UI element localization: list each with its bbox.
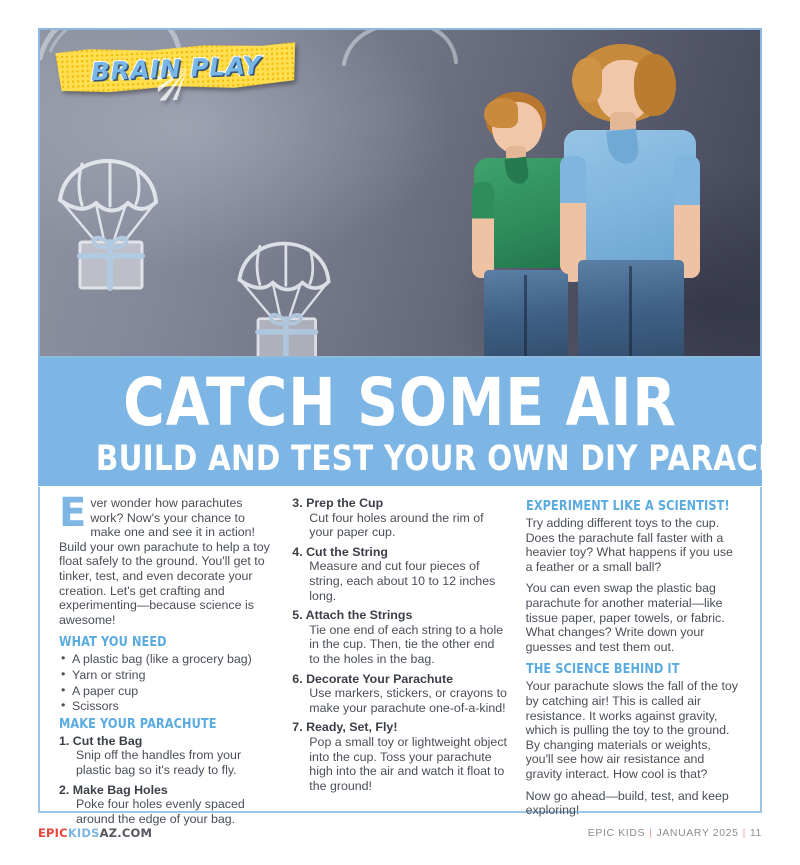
materials-list: A plastic bag (like a grocery bag) Yarn … [59, 652, 274, 713]
list-item: 4. Cut the String Measure and cut four p… [292, 545, 507, 603]
heading-science: THE SCIENCE BEHIND IT [526, 661, 707, 677]
list-item: 2. Make Bag Holes Poke four holes evenly… [59, 783, 274, 827]
logo-epic: EPIC [38, 826, 68, 840]
list-item: 7. Ready, Set, Fly! Pop a small toy or l… [292, 720, 507, 793]
page-subtitle: BUILD AND TEST YOUR OWN DIY PARACHUTE. [96, 439, 704, 479]
magazine-page: BRAIN PLAY CATCH SOME AIR BUILD AND TEST… [0, 0, 800, 865]
hero-photo: BRAIN PLAY [38, 28, 762, 358]
list-item: 6. Decorate Your Parachute Use markers, … [292, 672, 507, 716]
science-paragraph: Your parachute slows the fall of the toy… [526, 679, 741, 781]
list-item: A plastic bag (like a grocery bag) [59, 652, 274, 667]
left-arm [560, 156, 586, 274]
step-body: Use markers, stickers, or crayons to mak… [292, 686, 507, 715]
logo-domain: AZ.COM [100, 826, 152, 840]
experiment-paragraph: You can even swap the plastic bag parach… [526, 581, 741, 654]
intro-text: ver wonder how parachutes work? Now's yo… [59, 496, 270, 627]
column-one: Ever wonder how parachutes work? Now's y… [50, 496, 283, 805]
intro-paragraph: Ever wonder how parachutes work? Now's y… [59, 496, 274, 627]
separator: | [743, 827, 746, 839]
article-body: Ever wonder how parachutes work? Now's y… [38, 487, 762, 813]
step-title: 1. Cut the Bag [59, 734, 274, 749]
left-arm [472, 182, 494, 278]
steps-list-part-two: 3. Prep the Cup Cut four holes around th… [292, 496, 507, 793]
step-body: Cut four holes around the rim of your pa… [292, 511, 507, 540]
step-title: 7. Ready, Set, Fly! [292, 720, 507, 735]
column-three: EXPERIMENT LIKE A SCIENTIST! Try adding … [517, 496, 750, 805]
list-item: 3. Prep the Cup Cut four holes around th… [292, 496, 507, 540]
list-item: 1. Cut the Bag Snip off the handles from… [59, 734, 274, 778]
list-item: A paper cup [59, 684, 274, 699]
hair-fringe [484, 98, 518, 128]
issue-info: EPIC KIDS|JANUARY 2025|11 [588, 827, 762, 839]
boys-photo-subject [420, 30, 762, 356]
step-title: 6. Decorate Your Parachute [292, 672, 507, 687]
list-item: Scissors [59, 699, 274, 714]
step-body: Pop a small toy or lightweight object in… [292, 735, 507, 793]
hair-curls [634, 54, 676, 116]
page-title: CATCH SOME AIR [89, 358, 712, 439]
brain-play-banner: BRAIN PLAY [55, 41, 297, 94]
step-title: 4. Cut the String [292, 545, 507, 560]
website-logo[interactable]: EPICKIDSAZ.COM [38, 826, 152, 840]
step-body: Poke four holes evenly spaced around the… [59, 797, 274, 826]
heading-what-you-need: WHAT YOU NEED [59, 634, 240, 650]
heading-experiment: EXPERIMENT LIKE A SCIENTIST! [526, 498, 707, 514]
hair-left [572, 58, 602, 102]
jeans [484, 270, 568, 356]
column-two: 3. Prep the Cup Cut four holes around th… [283, 496, 516, 805]
step-title: 5. Attach the Strings [292, 608, 507, 623]
page-footer: EPICKIDSAZ.COM EPIC KIDS|JANUARY 2025|11 [38, 826, 762, 840]
step-body: Measure and cut four pieces of string, e… [292, 559, 507, 603]
experiment-paragraph: Try adding different toys to the cup. Do… [526, 516, 741, 574]
step-title: 2. Make Bag Holes [59, 783, 274, 798]
logo-kids: KIDS [68, 826, 100, 840]
chalk-parachute-gift-icon [52, 156, 164, 294]
page-number: 11 [750, 827, 762, 839]
heading-make-your-parachute: MAKE YOUR PARACHUTE [59, 716, 240, 732]
issue-brand: EPIC KIDS [588, 827, 645, 839]
boy-blue-shirt [560, 44, 700, 356]
step-title: 3. Prep the Cup [292, 496, 507, 511]
drop-cap: E [59, 497, 86, 530]
step-body: Snip off the handles from your plastic b… [59, 748, 274, 777]
brain-play-label: BRAIN PLAY [55, 41, 297, 94]
list-item: 5. Attach the Strings Tie one end of eac… [292, 608, 507, 666]
title-band: CATCH SOME AIR BUILD AND TEST YOUR OWN D… [38, 358, 762, 486]
separator: | [649, 827, 652, 839]
science-paragraph: Now go ahead—build, test, and keep explo… [526, 789, 741, 818]
chalk-parachute-gift-icon-2 [232, 236, 336, 358]
steps-list-part-one: 1. Cut the Bag Snip off the handles from… [59, 734, 274, 827]
list-item: Yarn or string [59, 668, 274, 683]
issue-date: JANUARY 2025 [656, 827, 738, 839]
step-body: Tie one end of each string to a hole in … [292, 623, 507, 667]
jeans [578, 260, 684, 356]
